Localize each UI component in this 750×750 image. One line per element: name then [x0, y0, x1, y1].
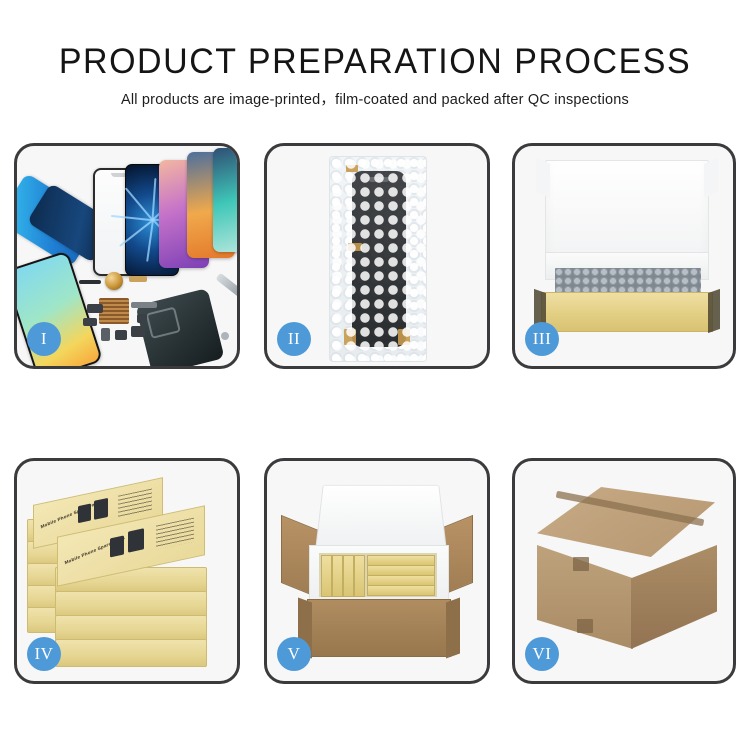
small-part-a: [87, 304, 103, 313]
small-part-f: [137, 314, 147, 323]
box-label-phone-icon-a1: [78, 503, 91, 523]
box-stack: Mobile Phone Spare Parts Mobile Phone Sp…: [27, 475, 233, 671]
header: PRODUCT PREPARATION PROCESS All products…: [0, 0, 750, 109]
small-part-b: [83, 318, 97, 326]
page-subtitle: All products are image-printed，film-coat…: [0, 82, 750, 109]
box-label-text-lines-b: [156, 518, 194, 550]
small-part-bar: [79, 280, 101, 284]
small-part-d: [115, 330, 127, 340]
kraft-box-base: [541, 292, 713, 332]
retail-box-3: [343, 555, 354, 597]
step-panel-2: II: [264, 143, 490, 369]
small-part-c: [101, 328, 110, 341]
product-preparation-infographic: PRODUCT PREPARATION PROCESS All products…: [0, 0, 750, 750]
tape-strip-top: [346, 165, 358, 172]
stacked-box-front-4: [55, 639, 207, 667]
tape-strip-mid: [348, 243, 362, 251]
screwdriver-icon: [215, 273, 240, 308]
tape-strip-bottom-right: [398, 329, 410, 345]
retail-box-1: [321, 555, 332, 597]
box-label-phone-icon-b2: [128, 528, 144, 552]
box-label-phone-icon-b1: [110, 535, 124, 557]
box-label-a: Mobile Phone Spare Parts: [40, 499, 101, 529]
step-badge-4: IV: [27, 637, 61, 671]
copper-coil-part: [105, 272, 123, 290]
step-badge-2: II: [277, 322, 311, 356]
flex-cable-grey: [131, 302, 157, 308]
retail-box-8: [367, 585, 435, 596]
page-title: PRODUCT PREPARATION PROCESS: [11, 0, 739, 82]
step-badge-6: VI: [525, 637, 559, 671]
process-step-grid: I II III: [0, 140, 750, 700]
retail-box-2: [332, 555, 343, 597]
step-panel-4: Mobile Phone Spare Parts Mobile Phone Sp…: [14, 458, 240, 684]
step-panel-6: VI: [512, 458, 736, 684]
foam-box-contents: [319, 553, 437, 597]
phone-back-housing-part: [135, 288, 224, 369]
phone-screen-teal: [213, 148, 240, 252]
stacked-box-front-2: [55, 591, 207, 617]
stacked-box-front-3: [55, 615, 207, 641]
wrapped-screen-assembly: [352, 171, 406, 347]
step-badge-5: V: [277, 637, 311, 671]
tape-strip-bottom-left: [344, 329, 356, 345]
step-panel-1: I: [14, 143, 240, 369]
small-part-e: [131, 326, 145, 337]
step-panel-5: V: [264, 458, 490, 684]
step-badge-1: I: [27, 322, 61, 356]
retail-box-4: [354, 555, 365, 597]
carton-side-face: [631, 545, 717, 649]
circuit-board-part: [99, 298, 129, 324]
flex-cable-gold: [129, 276, 147, 282]
carton-base: [307, 599, 451, 657]
screw-part: [221, 332, 229, 340]
foam-box-lid: [315, 485, 447, 554]
carton-tab-upper: [573, 557, 589, 571]
step-panel-3: III: [512, 143, 736, 369]
box-label-phone-icon-a2: [94, 498, 108, 520]
step-badge-3: III: [525, 322, 559, 356]
carton-tab-lower: [577, 619, 593, 633]
box-label-text-lines-a: [118, 489, 152, 518]
bubble-wrap-bag: [329, 156, 427, 362]
